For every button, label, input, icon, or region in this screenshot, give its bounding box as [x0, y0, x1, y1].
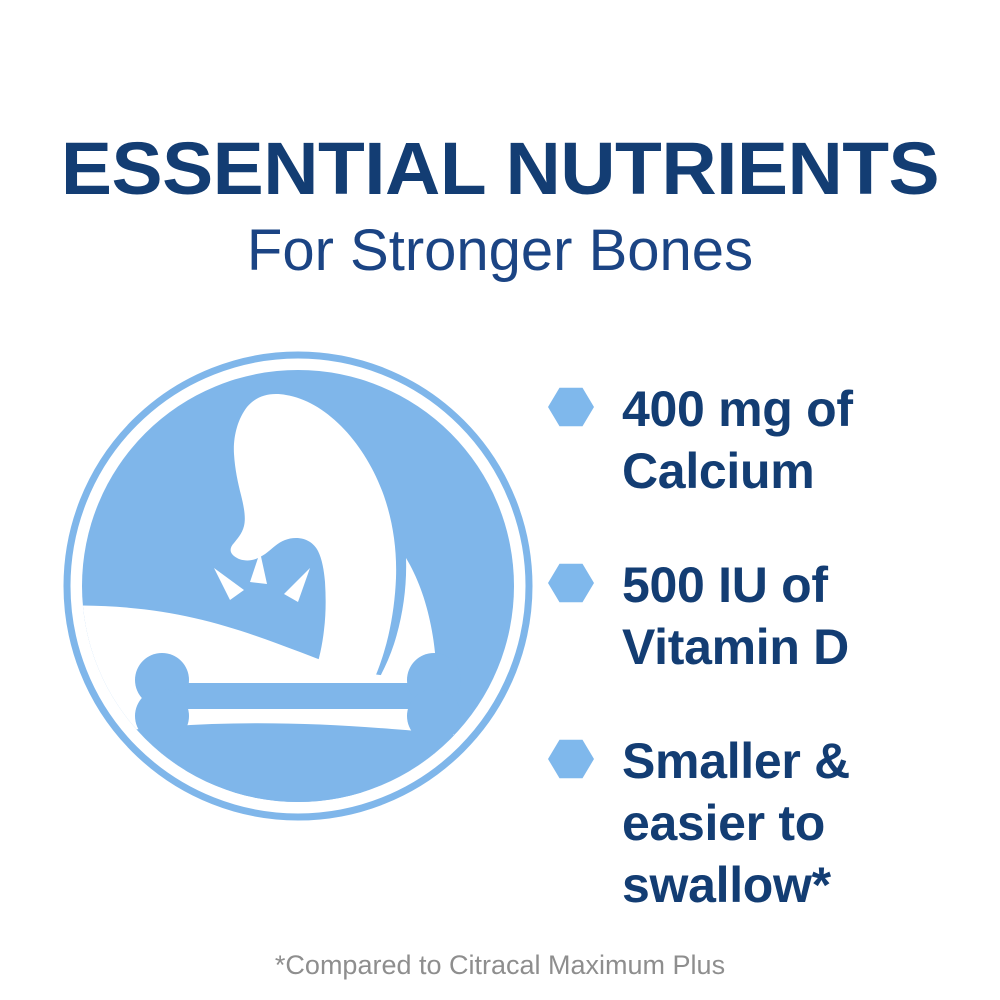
list-item-line: easier to: [622, 792, 850, 854]
flexed-arm-and-bone-circle-icon: [62, 350, 534, 822]
list-item-line: swallow*: [622, 854, 850, 916]
list-item-line: Calcium: [622, 440, 853, 502]
list-item: Smaller & easier to swallow*: [548, 730, 968, 916]
list-item-label: 400 mg of Calcium: [622, 378, 853, 502]
benefits-list: 400 mg of Calcium 500 IU of Vitamin D: [548, 378, 968, 916]
hexagon-bullet-icon: [548, 736, 594, 782]
page-subtitle: For Stronger Bones: [0, 218, 1000, 284]
illustration-svg: [62, 350, 534, 822]
list-item-line: 500 IU of: [622, 554, 849, 616]
list-item: 400 mg of Calcium: [548, 378, 968, 502]
list-item: 500 IU of Vitamin D: [548, 554, 968, 678]
footnote: *Compared to Citracal Maximum Plus: [0, 948, 1000, 982]
hexagon-bullet-icon: [548, 384, 594, 430]
list-item-line: 400 mg of: [622, 378, 853, 440]
hexagon-bullet-icon: [548, 560, 594, 606]
infographic-page: ESSENTIAL NUTRIENTS For Stronger Bones: [0, 0, 1000, 1000]
list-item-line: Smaller &: [622, 730, 850, 792]
bottom-crescent: [62, 723, 534, 822]
list-item-label: Smaller & easier to swallow*: [622, 730, 850, 916]
list-item-line: Vitamin D: [622, 616, 849, 678]
page-title: ESSENTIAL NUTRIENTS: [0, 128, 1000, 210]
list-item-label: 500 IU of Vitamin D: [622, 554, 849, 678]
heading-block: ESSENTIAL NUTRIENTS For Stronger Bones: [0, 128, 1000, 284]
